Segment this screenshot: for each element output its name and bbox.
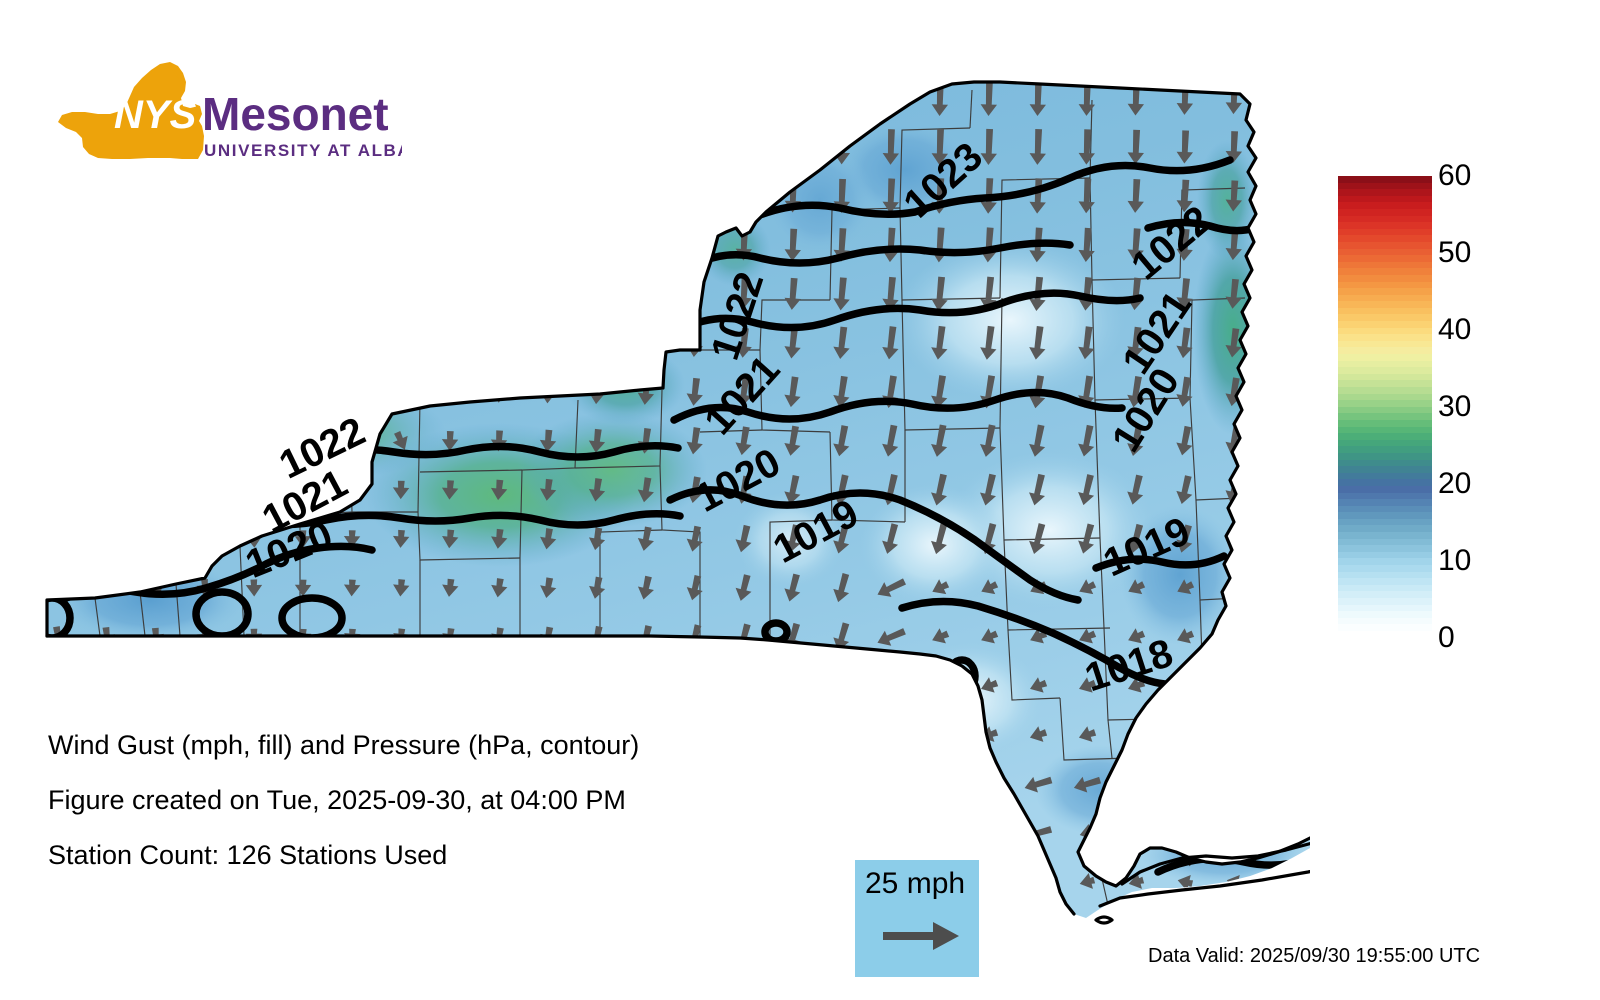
wind-arrow [1274, 181, 1292, 211]
wind-arrow [93, 329, 120, 357]
wind-arrow [44, 427, 71, 455]
colorbar-step [1338, 565, 1432, 572]
wind-arrow [388, 182, 414, 209]
wind-arrow [588, 182, 605, 209]
colorbar-step [1338, 611, 1432, 618]
wind-arrow [94, 378, 121, 406]
colorbar-step [1338, 242, 1432, 249]
right-arrow-icon [881, 918, 961, 954]
colorbar-step [1338, 486, 1432, 493]
wind-arrow [491, 332, 508, 354]
wind-arrow [1272, 725, 1293, 746]
wind-arrow [97, 528, 116, 551]
wind-arrow [736, 131, 752, 163]
wind-arrow [588, 84, 606, 113]
colorbar-step [1338, 380, 1432, 387]
wind-arrow [830, 769, 853, 799]
wind-arrow [925, 821, 956, 844]
colorbar-step [1338, 268, 1432, 275]
wind-arrow [1225, 823, 1243, 842]
wind-arrow [539, 232, 556, 257]
wind-arrow [48, 576, 68, 600]
wind-arrow [540, 331, 557, 355]
wind-arrow [1127, 823, 1146, 843]
wind-arrow [141, 83, 170, 112]
colorbar-step [1338, 301, 1432, 308]
wind-arrow [146, 479, 165, 501]
wind-arrow [339, 232, 364, 259]
wind-arrow [339, 84, 366, 112]
colorbar-step [1338, 591, 1432, 598]
wind-arrow [388, 133, 414, 161]
wind-arrow [192, 281, 218, 308]
colorbar-step [1338, 539, 1432, 546]
wind-arrow [1223, 626, 1245, 648]
data-valid-timestamp: Data Valid: 2025/09/30 19:55:00 UTC [1148, 944, 1480, 968]
wind-arrow [736, 82, 753, 115]
wind-arrow [92, 181, 121, 210]
wind-arrow [687, 181, 703, 211]
colorbar-step [1338, 545, 1432, 552]
colorbar-step [1338, 578, 1432, 585]
wind-arrow [339, 133, 365, 161]
colorbar-step [1338, 572, 1432, 579]
wind-arrow [48, 527, 68, 552]
wind-arrow [638, 182, 655, 211]
colorbar-step [1338, 367, 1432, 374]
colorbar-step [1338, 605, 1432, 612]
wind-arrow [637, 280, 654, 308]
wind-arrow [339, 182, 365, 209]
wind-arrow [1272, 675, 1294, 696]
wind-arrow [1274, 823, 1292, 842]
wind-arrow [290, 133, 316, 161]
wind-arrow [1171, 773, 1200, 796]
wind-arrow [834, 80, 851, 116]
wind-arrow [490, 282, 507, 305]
colorbar-step [1338, 334, 1432, 341]
wind-arrow [1270, 773, 1296, 795]
colorbar-step [1338, 282, 1432, 289]
wind-arrow [242, 330, 267, 356]
colorbar-step [1338, 420, 1432, 427]
wind-arrow [1272, 476, 1294, 505]
wind-arrow [1272, 525, 1294, 554]
wind-arrow [240, 84, 267, 112]
colorbar-step [1338, 321, 1432, 328]
colorbar-step [1338, 255, 1432, 262]
caption-line-stations: Station Count: 126 Stations Used [48, 828, 828, 883]
wind-arrow [241, 232, 267, 259]
wind-arrow [974, 821, 1005, 844]
wind-arrow [539, 183, 557, 209]
wind-arrow [589, 232, 606, 258]
colorbar-tick-labels: 6050403020100 [1438, 176, 1578, 638]
colorbar-step [1338, 512, 1432, 519]
colorbar-tick: 40 [1438, 315, 1471, 345]
wind-arrow [875, 772, 906, 796]
colorbar-step [1338, 275, 1432, 282]
wind-arrow [192, 231, 219, 258]
wind-arrow [388, 84, 415, 112]
colorbar-step [1338, 413, 1432, 420]
wind-arrow [142, 182, 170, 210]
wind-arrow [1274, 230, 1293, 260]
colorbar-step [1338, 473, 1432, 480]
wind-arrow [196, 529, 214, 549]
colorbar-step [1338, 525, 1432, 532]
wind-arrow [736, 180, 753, 212]
wind-arrow [242, 429, 266, 454]
wind-arrow [193, 428, 217, 453]
colorbar-step [1338, 479, 1432, 486]
wind-arrow [147, 677, 165, 696]
wind-arrow [635, 673, 656, 699]
wind-arrow [142, 133, 171, 162]
colorbar: 6050403020100 [1338, 176, 1588, 646]
colorbar-step [1338, 288, 1432, 295]
wind-arrow [1272, 626, 1294, 648]
wind-arrow [294, 678, 311, 694]
wind-arrow [637, 83, 654, 113]
colorbar-step [1338, 249, 1432, 256]
wind-arrow [196, 480, 214, 501]
wind-arrow [93, 231, 122, 260]
colorbar-step [1338, 552, 1432, 559]
wind-arrow [1273, 328, 1293, 358]
colorbar-step [1338, 229, 1432, 236]
wind-arrow [589, 281, 606, 307]
wind-arrow [291, 330, 315, 355]
wind-arrow [540, 282, 557, 306]
wind-arrow [440, 134, 459, 159]
wind-arrow [924, 772, 956, 796]
wind-arrow [92, 132, 122, 162]
colorbar-step [1338, 493, 1432, 500]
wind-arrow [340, 330, 364, 355]
wind-arrow [142, 231, 170, 259]
wind-arrow [442, 382, 458, 402]
wind-arrow [43, 279, 72, 308]
wind-arrow [733, 672, 756, 701]
wind-arrow [489, 676, 508, 696]
wind-arrow [875, 723, 907, 748]
colorbar-tick: 50 [1438, 238, 1471, 268]
colorbar-step [1338, 466, 1432, 473]
colorbar-step [1338, 361, 1432, 368]
wind-arrow [687, 132, 704, 163]
colorbar-step [1338, 506, 1432, 513]
colorbar-tick: 0 [1438, 623, 1455, 653]
wind-arrow [42, 83, 73, 114]
wind-arrow [490, 85, 509, 112]
wind-arrow [291, 380, 315, 405]
wind-arrow [389, 330, 413, 356]
wind-arrow [538, 675, 558, 697]
colorbar-tick: 10 [1438, 546, 1471, 576]
wind-arrow [882, 80, 899, 116]
colorbar-step [1338, 295, 1432, 302]
wind-arrow [340, 380, 363, 405]
colorbar-step [1338, 209, 1432, 216]
wind-arrow [830, 720, 854, 751]
colorbar-step [1338, 440, 1432, 447]
colorbar-step [1338, 183, 1432, 190]
wind-arrow [147, 528, 166, 549]
caption-line-variables: Wind Gust (mph, fill) and Pressure (hPa,… [48, 718, 828, 773]
wind-arrow [637, 329, 655, 357]
colorbar-step [1338, 433, 1432, 440]
wind-arrow [588, 133, 606, 161]
wind-arrow [785, 81, 802, 115]
wind-arrow [241, 182, 267, 209]
colorbar-step [1338, 222, 1432, 229]
wind-arrow [539, 133, 557, 160]
wind-arrow [588, 330, 605, 356]
wind-arrow [92, 83, 122, 113]
wind-arrow [43, 132, 74, 162]
wind-arrow [587, 674, 608, 698]
wind-arrow [490, 134, 509, 160]
wind-arrow [389, 281, 414, 307]
wind-arrow [1174, 675, 1196, 696]
wind-arrow [830, 670, 854, 702]
wind-arrow [929, 675, 951, 696]
colorbar-step [1338, 394, 1432, 401]
wind-arrow [1272, 577, 1294, 599]
wind-arrow [1272, 426, 1293, 455]
wind-arrow [875, 673, 908, 698]
wind-arrow [94, 427, 120, 454]
wind-arrow [1273, 377, 1294, 406]
colorbar-step [1338, 519, 1432, 526]
colorbar-tick: 30 [1438, 392, 1471, 422]
wind-arrow [684, 672, 706, 699]
wind-arrow [637, 132, 654, 162]
wind-arrow [785, 130, 802, 164]
wind-arrow [539, 84, 557, 112]
wind-arrow [686, 230, 703, 260]
wind-arrow [929, 725, 950, 746]
colorbar-gradient [1338, 176, 1432, 638]
wind-legend-label: 25 mph [865, 866, 965, 902]
wind-arrow [1274, 132, 1292, 163]
colorbar-step [1338, 202, 1432, 209]
colorbar-step [1338, 189, 1432, 196]
wind-arrow [143, 379, 169, 406]
wind-arrow [1223, 725, 1244, 746]
wind-arrow [191, 182, 218, 210]
colorbar-step [1338, 427, 1432, 434]
wind-arrow [48, 675, 67, 697]
wind-arrow [441, 184, 460, 209]
colorbar-step [1338, 558, 1432, 565]
wind-arrow [388, 232, 413, 259]
wind-arrow [97, 478, 117, 502]
colorbar-step [1338, 347, 1432, 354]
colorbar-step [1338, 235, 1432, 242]
wind-arrow [490, 183, 508, 208]
wind-vector-legend: 25 mph [855, 860, 979, 977]
wind-arrow [98, 676, 116, 696]
colorbar-step [1338, 453, 1432, 460]
wind-arrow [781, 671, 804, 701]
colorbar-tick: 60 [1438, 161, 1471, 191]
wind-arrow [973, 772, 1005, 796]
wind-arrow [1176, 823, 1194, 842]
colorbar-step [1338, 499, 1432, 506]
wind-arrow [44, 378, 72, 407]
colorbar-step [1338, 196, 1432, 203]
wind-arrow [48, 477, 69, 503]
wind-arrow [440, 85, 460, 111]
wind-arrow [876, 821, 906, 844]
colorbar-step [1338, 446, 1432, 453]
wind-arrow [241, 133, 268, 161]
wind-arrow [441, 332, 458, 354]
colorbar-step [1338, 400, 1432, 407]
colorbar-step [1338, 631, 1432, 638]
colorbar-step [1338, 308, 1432, 315]
colorbar-step [1338, 532, 1432, 539]
caption-line-created: Figure created on Tue, 2025-09-30, at 04… [48, 773, 828, 828]
colorbar-step [1338, 354, 1432, 361]
wind-arrow [291, 281, 316, 307]
wind-arrow [193, 379, 218, 405]
wind-arrow [1023, 871, 1053, 894]
wind-arrow [290, 182, 316, 209]
wind-arrow [192, 330, 217, 356]
colorbar-step [1338, 262, 1432, 269]
wind-arrow [246, 678, 262, 694]
wind-arrow [44, 328, 73, 357]
wind-arrow [1223, 675, 1245, 696]
wind-arrow [441, 283, 459, 306]
wind-arrow [441, 677, 460, 696]
wind-arrow [1174, 725, 1195, 746]
wind-arrow [43, 181, 73, 211]
wind-arrow [340, 281, 365, 307]
wind-arrow [343, 678, 361, 695]
wind-arrow [241, 281, 266, 307]
wind-arrow [1121, 772, 1151, 795]
wind-arrow [1274, 82, 1292, 113]
wind-arrow [242, 379, 266, 404]
wind-arrow [93, 280, 121, 309]
wind-arrow [389, 380, 412, 405]
colorbar-step [1338, 176, 1432, 183]
wind-arrow [197, 678, 214, 695]
colorbar-step [1338, 341, 1432, 348]
colorbar-step [1338, 328, 1432, 335]
wind-arrow [441, 233, 459, 257]
wind-arrow [290, 84, 317, 112]
wind-arrow [392, 677, 410, 695]
colorbar-step [1338, 460, 1432, 467]
wind-arrow [638, 231, 655, 259]
colorbar-step [1338, 216, 1432, 223]
colorbar-step [1338, 598, 1432, 605]
colorbar-step [1338, 624, 1432, 631]
colorbar-tick: 20 [1438, 469, 1471, 499]
wind-arrow [143, 280, 170, 308]
wind-arrow [43, 230, 73, 260]
wind-arrow [143, 329, 169, 356]
colorbar-step [1338, 314, 1432, 321]
wind-arrow [191, 84, 219, 113]
wind-arrow [490, 233, 508, 257]
colorbar-step [1338, 407, 1432, 414]
wind-arrow [831, 818, 854, 848]
colorbar-step [1338, 387, 1432, 394]
wind-arrow [831, 868, 853, 897]
wind-arrow [687, 82, 704, 114]
wind-arrow [290, 232, 315, 259]
colorbar-step [1338, 374, 1432, 381]
wind-arrow [1220, 773, 1247, 795]
colorbar-step [1338, 585, 1432, 592]
colorbar-step [1338, 618, 1432, 625]
wind-arrow [191, 133, 219, 161]
wind-arrow [143, 428, 168, 454]
wind-arrow [245, 480, 263, 499]
wind-arrow [1273, 279, 1292, 309]
figure-caption: Wind Gust (mph, fill) and Pressure (hPa,… [48, 718, 828, 883]
